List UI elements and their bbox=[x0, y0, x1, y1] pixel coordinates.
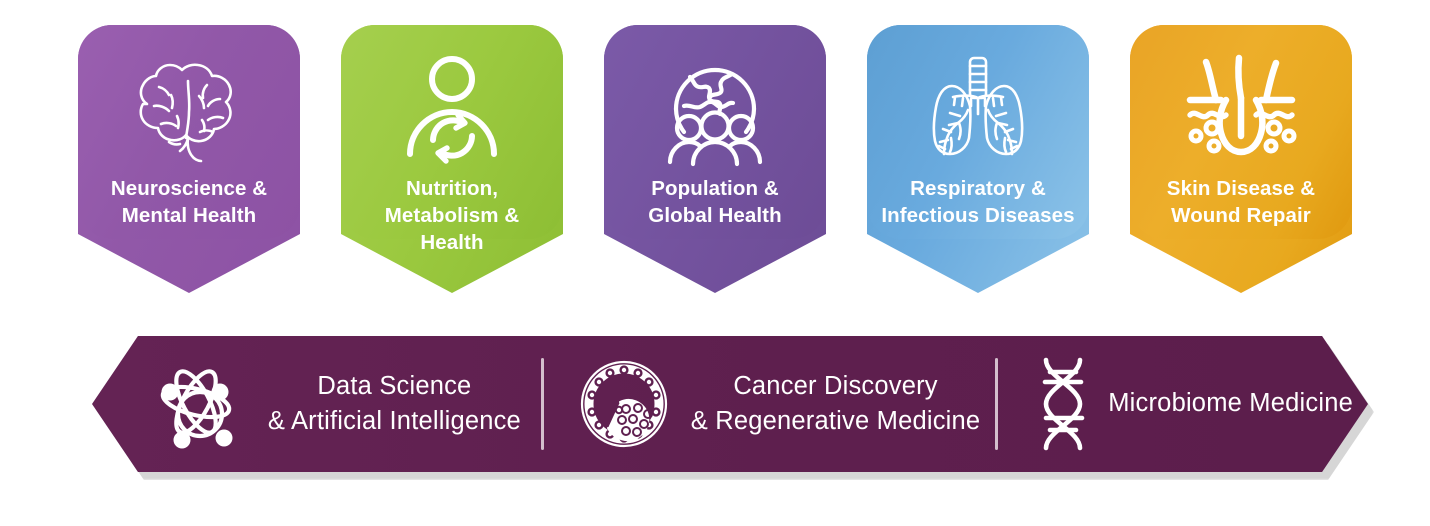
banner-item-label: Microbiome Medicine bbox=[1100, 386, 1368, 421]
banner-item-label: Data Science & Artificial Intelligence bbox=[248, 369, 541, 439]
theme-card-population-global-health[interactable]: Population & Global Health bbox=[604, 25, 826, 293]
banner-item-cancer-discovery-regenerative-medicine[interactable]: Cancer Discovery & Regenerative Medicine bbox=[544, 336, 995, 472]
theme-card-label: Respiratory & Infectious Diseases bbox=[875, 175, 1080, 229]
theme-cards-row: Neuroscience & Mental Health Nutrition, … bbox=[78, 25, 1352, 295]
dna-icon bbox=[1026, 352, 1100, 456]
theme-card-label: Neuroscience & Mental Health bbox=[105, 175, 273, 229]
brain-icon bbox=[123, 51, 255, 169]
banner-body: Data Science & Artificial Intelligence bbox=[92, 336, 1368, 472]
banner-item-microbiome-medicine[interactable]: Microbiome Medicine bbox=[998, 336, 1368, 472]
infographic-board: Neuroscience & Mental Health Nutrition, … bbox=[0, 0, 1430, 526]
lungs-icon bbox=[912, 51, 1044, 169]
banner-item-label: Cancer Discovery & Regenerative Medicine bbox=[676, 369, 995, 439]
skin-hair-follicle-icon bbox=[1175, 51, 1307, 169]
theme-card-neuroscience-mental-health[interactable]: Neuroscience & Mental Health bbox=[78, 25, 300, 293]
atom-icon bbox=[144, 352, 248, 456]
theme-card-label: Skin Disease & Wound Repair bbox=[1161, 175, 1321, 229]
theme-card-nutrition-metabolism-health[interactable]: Nutrition, Metabolism & Health bbox=[341, 25, 563, 293]
theme-card-respiratory-infectious-diseases[interactable]: Respiratory & Infectious Diseases bbox=[867, 25, 1089, 293]
banner-item-data-science-ai[interactable]: Data Science & Artificial Intelligence bbox=[92, 336, 541, 472]
person-metabolism-icon bbox=[386, 51, 518, 169]
cross-cutting-banner: Data Science & Artificial Intelligence bbox=[92, 336, 1368, 476]
theme-card-skin-disease-wound-repair[interactable]: Skin Disease & Wound Repair bbox=[1130, 25, 1352, 293]
cell-icon bbox=[572, 352, 676, 456]
globe-people-icon bbox=[649, 51, 781, 169]
theme-card-label: Nutrition, Metabolism & Health bbox=[379, 175, 525, 256]
theme-card-label: Population & Global Health bbox=[642, 175, 787, 229]
